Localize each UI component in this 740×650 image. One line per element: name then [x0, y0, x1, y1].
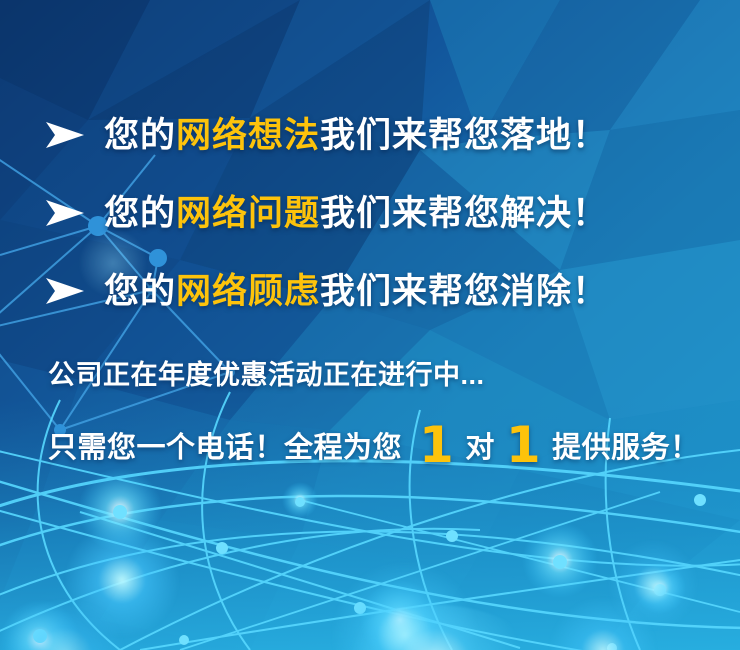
headline-prefix: 您的 — [104, 194, 176, 233]
headline-suffix: 我们来帮您解决！ — [320, 194, 608, 233]
subline-block: 公司正在年度优惠活动正在进行中... 只需您一个电话！全程为您1对1提供服务！ — [0, 358, 740, 466]
headline-highlight: 网络问题 — [176, 194, 320, 233]
arrow-icon — [44, 120, 86, 150]
banner-content: 您的网络想法我们来帮您落地！ 您的网络问题我们来帮您解决！ 您的网络顾虑我们来帮… — [0, 0, 740, 650]
headline-highlight: 网络想法 — [176, 116, 320, 155]
headline-item-2: 您的网络问题我们来帮您解决！ — [0, 174, 740, 252]
headline-item-1: 您的网络想法我们来帮您落地！ — [0, 96, 740, 174]
service-pitch-part2: 提供服务！ — [552, 432, 700, 464]
headline-highlight: 网络顾虑 — [176, 272, 320, 311]
arrow-icon — [44, 276, 86, 306]
headline-suffix: 我们来帮您落地！ — [320, 116, 608, 155]
headline-prefix: 您的 — [104, 116, 176, 155]
headline-text-2: 您的网络问题我们来帮您解决！ — [104, 196, 608, 231]
headline-list: 您的网络想法我们来帮您落地！ 您的网络问题我们来帮您解决！ 您的网络顾虑我们来帮… — [0, 96, 740, 330]
headline-suffix: 我们来帮您消除！ — [320, 272, 608, 311]
headline-item-3: 您的网络顾虑我们来帮您消除！ — [0, 252, 740, 330]
promo-notice-line: 公司正在年度优惠活动正在进行中... — [0, 358, 740, 392]
promo-banner: 您的网络想法我们来帮您落地！ 您的网络问题我们来帮您解决！ 您的网络顾虑我们来帮… — [0, 0, 740, 650]
one-to-one-second-number: 1 — [503, 416, 544, 474]
one-to-one-mid: 对 — [465, 432, 495, 464]
headline-text-1: 您的网络想法我们来帮您落地！ — [104, 118, 608, 153]
service-pitch-part1: 只需您一个电话！全程为您 — [48, 432, 402, 464]
headline-prefix: 您的 — [104, 272, 176, 311]
one-to-one-first-number: 1 — [416, 416, 457, 474]
arrow-icon — [44, 198, 86, 228]
headline-text-3: 您的网络顾虑我们来帮您消除！ — [104, 274, 608, 309]
service-pitch-line: 只需您一个电话！全程为您1对1提供服务！ — [0, 430, 740, 466]
